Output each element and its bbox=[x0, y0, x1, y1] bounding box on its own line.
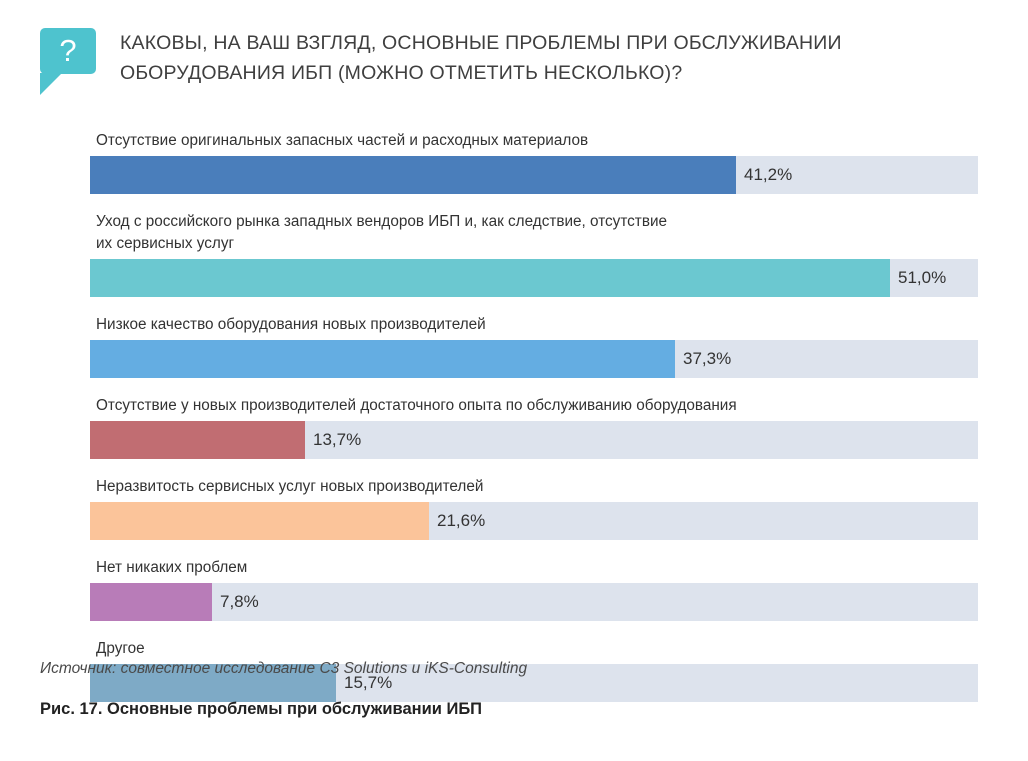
bar-label: Уход с российского рынка западных вендор… bbox=[90, 211, 978, 255]
bar-value-label: 21,6% bbox=[429, 502, 485, 540]
question-speech-bubble-icon: ? bbox=[40, 28, 96, 96]
bar-value-label: 13,7% bbox=[305, 421, 361, 459]
chart-page: ? КАКОВЫ, НА ВАШ ВЗГЛЯД, ОСНОВНЫЕ ПРОБЛЕ… bbox=[0, 0, 1028, 761]
bar-track: 37,3% bbox=[90, 340, 978, 378]
bar-fill bbox=[90, 156, 736, 194]
chart-row: Нет никаких проблем7,8% bbox=[90, 557, 978, 621]
bar-fill bbox=[90, 259, 890, 297]
source-note: Источник: совместное исследование C3 Sol… bbox=[40, 660, 527, 678]
bar-track: 21,6% bbox=[90, 502, 978, 540]
chart-row: Отсутствие у новых производителей достат… bbox=[90, 395, 978, 459]
bar-label: Отсутствие у новых производителей достат… bbox=[90, 395, 978, 417]
question-mark-glyph: ? bbox=[59, 35, 76, 66]
bar-value-label: 7,8% bbox=[212, 583, 259, 621]
bar-value-label: 41,2% bbox=[736, 156, 792, 194]
bar-label: Другое bbox=[90, 638, 978, 660]
chart-row: Уход с российского рынка западных вендор… bbox=[90, 211, 978, 297]
bar-track: 41,2% bbox=[90, 156, 978, 194]
bar-fill bbox=[90, 502, 429, 540]
chart-header: ? КАКОВЫ, НА ВАШ ВЗГЛЯД, ОСНОВНЫЕ ПРОБЛЕ… bbox=[40, 28, 990, 96]
page-title-line-2: ОБОРУДОВАНИЯ ИБП (МОЖНО ОТМЕТИТЬ НЕСКОЛЬ… bbox=[120, 58, 842, 88]
bar-fill bbox=[90, 583, 212, 621]
bar-label: Нет никаких проблем bbox=[90, 557, 978, 579]
bar-track: 13,7% bbox=[90, 421, 978, 459]
bar-track: 51,0% bbox=[90, 259, 978, 297]
chart-row: Отсутствие оригинальных запасных частей … bbox=[90, 130, 978, 194]
horizontal-bar-chart: Отсутствие оригинальных запасных частей … bbox=[90, 130, 978, 719]
bar-label: Отсутствие оригинальных запасных частей … bbox=[90, 130, 978, 152]
bar-fill bbox=[90, 421, 305, 459]
bar-label: Низкое качество оборудования новых произ… bbox=[90, 314, 978, 336]
chart-row: Неразвитость сервисных услуг новых произ… bbox=[90, 476, 978, 540]
bar-value-label: 37,3% bbox=[675, 340, 731, 378]
page-title: КАКОВЫ, НА ВАШ ВЗГЛЯД, ОСНОВНЫЕ ПРОБЛЕМЫ… bbox=[120, 28, 842, 88]
bar-fill bbox=[90, 340, 675, 378]
bar-label: Неразвитость сервисных услуг новых произ… bbox=[90, 476, 978, 498]
chart-row: Низкое качество оборудования новых произ… bbox=[90, 314, 978, 378]
bar-value-label: 51,0% bbox=[890, 259, 946, 297]
bar-track: 7,8% bbox=[90, 583, 978, 621]
figure-caption: Рис. 17. Основные проблемы при обслужива… bbox=[40, 700, 482, 719]
speech-bubble-tail bbox=[40, 73, 62, 95]
page-title-line-1: КАКОВЫ, НА ВАШ ВЗГЛЯД, ОСНОВНЫЕ ПРОБЛЕМЫ… bbox=[120, 28, 842, 58]
